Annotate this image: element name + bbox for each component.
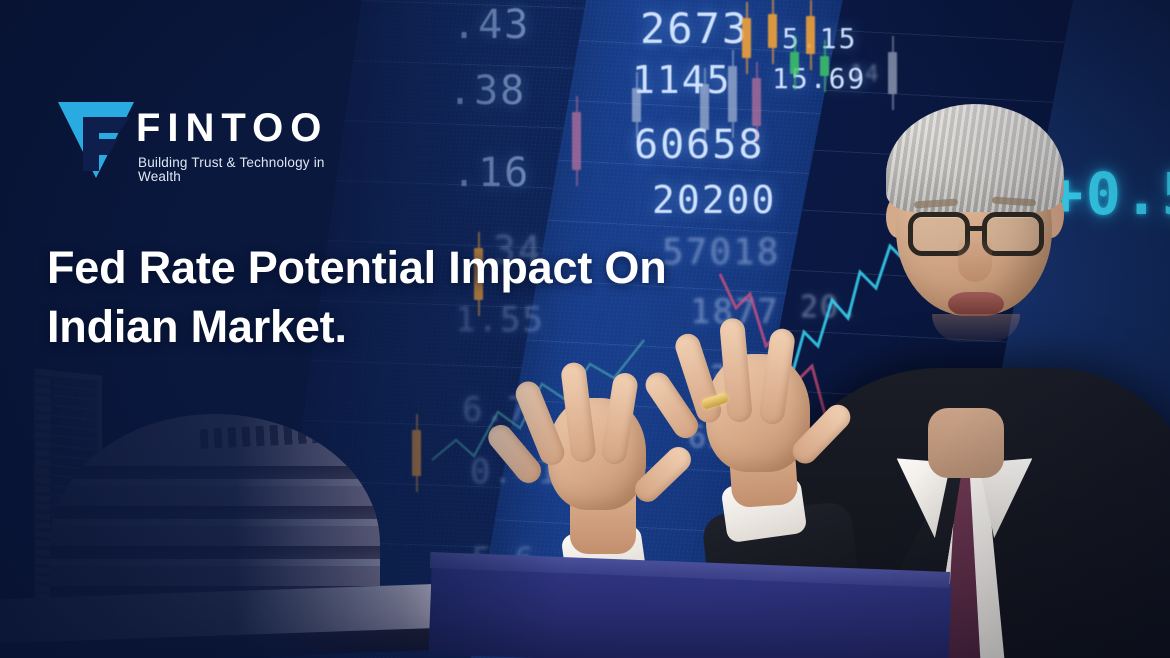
headline-line-1: Fed Rate Potential Impact On [47,242,667,293]
fintoo-logo[interactable]: FINTOO Building Trust & Technology in We… [58,98,358,184]
page-title: Fed Rate Potential Impact On Indian Mark… [47,238,807,357]
fintoo-triangle-f-mark [58,102,134,180]
fintoo-tagline: Building Trust & Technology in Wealth [138,156,358,183]
headline-line-2: Indian Market. [47,297,807,356]
fintoo-wordmark: FINTOO [136,108,328,148]
fed-rate-banner: .43 .38 .16 .34 1.55 6.7 0.41 5.6 55 267… [0,0,1170,658]
